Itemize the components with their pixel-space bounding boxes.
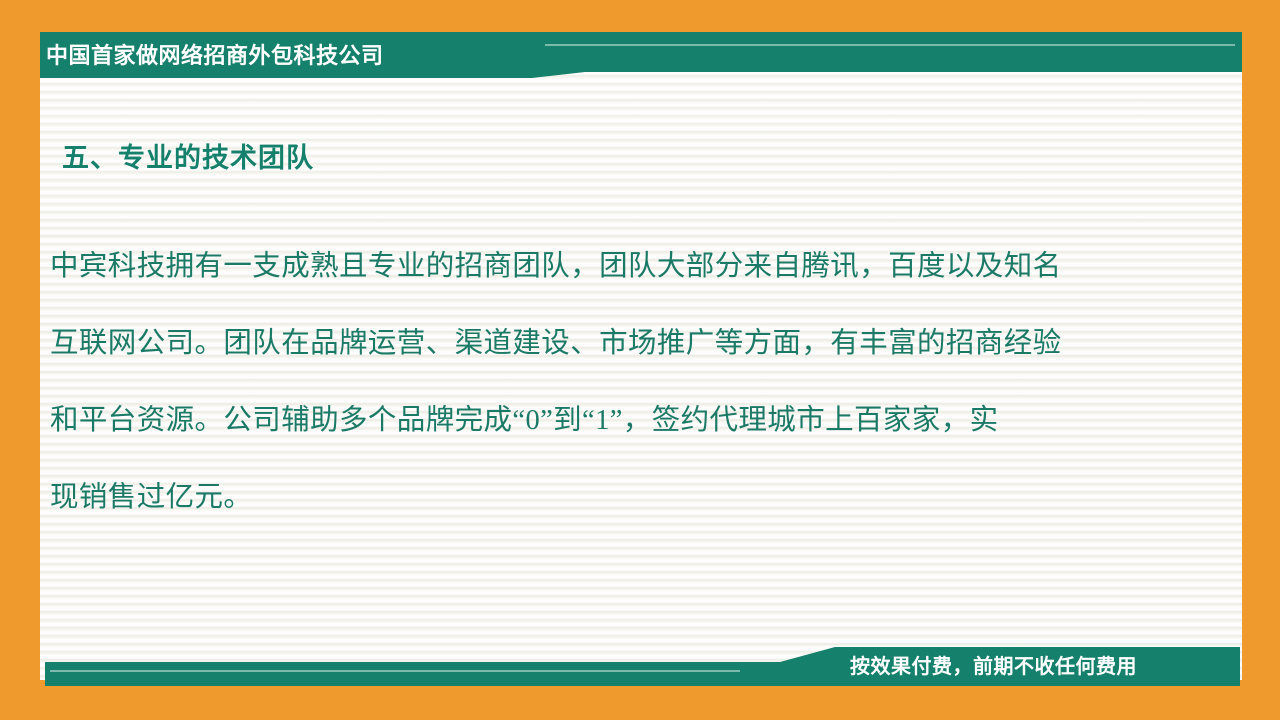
footer-hairline-divider — [50, 670, 740, 672]
footer-tagline: 按效果付费，前期不收任何费用 — [850, 650, 1137, 684]
body-line: 中宾科技拥有一支成熟且专业的招商团队，团队大部分来自腾讯，百度以及知名 — [50, 228, 1185, 305]
body-line: 互联网公司。团队在品牌运营、渠道建设、市场推广等方面，有丰富的招商经验 — [50, 305, 1185, 382]
slide-root: 中国首家做网络招商外包科技公司 五、专业的技术团队 中宾科技拥有一支成熟且专业的… — [0, 0, 1280, 720]
body-paragraph: 中宾科技拥有一支成熟且专业的招商团队，团队大部分来自腾讯，百度以及知名 互联网公… — [50, 228, 1185, 536]
header-title: 中国首家做网络招商外包科技公司 — [46, 36, 384, 76]
header-hairline-divider — [545, 44, 1235, 46]
section-title: 五、专业的技术团队 — [62, 136, 314, 175]
body-line: 现销售过亿元。 — [50, 459, 1185, 536]
body-line: 和平台资源。公司辅助多个品牌完成“0”到“1”，签约代理城市上百家家，实 — [50, 382, 1185, 459]
